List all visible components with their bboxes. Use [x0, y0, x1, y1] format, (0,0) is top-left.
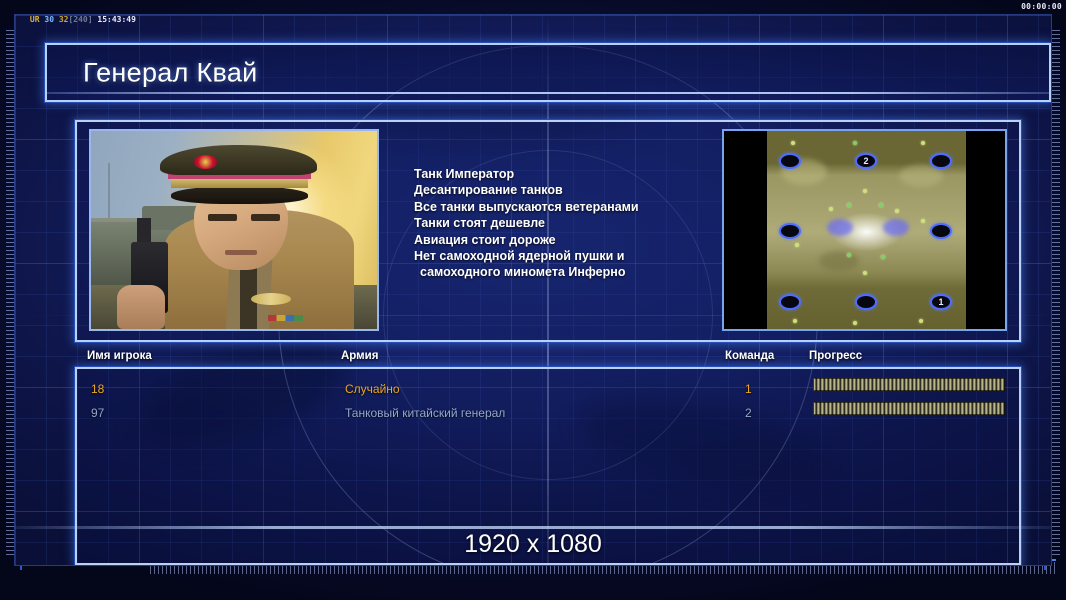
- general-info-panel: Танк Император Десантирование танков Все…: [75, 120, 1021, 342]
- map-preview[interactable]: 2 1: [722, 129, 1007, 331]
- map-start-position[interactable]: 2: [855, 153, 877, 169]
- portrait-cap-badge: [194, 155, 217, 169]
- game-timer: 00:00:00: [1021, 0, 1062, 13]
- bottom-accent-strip: [15, 526, 1051, 529]
- map-start-position[interactable]: 1: [930, 294, 952, 310]
- fps-bracket: [240]: [68, 15, 92, 24]
- session-time: 15:43:49: [97, 15, 136, 24]
- column-header-name: Имя игрока: [87, 350, 152, 362]
- general-description: Танк Император Десантирование танков Все…: [414, 166, 734, 281]
- fps-value-1: 30: [44, 15, 54, 24]
- map-water-right: [883, 219, 909, 236]
- map-start-position[interactable]: [930, 223, 952, 239]
- main-screen: Генерал Квай: [14, 14, 1052, 566]
- column-header-progress: Прогресс: [809, 350, 862, 362]
- description-line: Все танки выпускаются ветеранами: [414, 199, 734, 215]
- map-resource-dot: [795, 243, 799, 247]
- fps-label: UR: [30, 15, 40, 24]
- map-resource-dot: [847, 253, 851, 257]
- map-resource-dot: [853, 141, 857, 145]
- map-start-position[interactable]: [855, 294, 877, 310]
- portrait-cap-brim: [171, 186, 308, 204]
- description-line: Танки стоят дешевле: [414, 215, 734, 231]
- map-resource-dot: [791, 141, 795, 145]
- cell-team[interactable]: 1: [745, 378, 752, 400]
- cell-army[interactable]: Случайно: [345, 378, 400, 400]
- cell-team[interactable]: 2: [745, 402, 752, 424]
- map-start-position[interactable]: [930, 153, 952, 169]
- description-line: самоходного миномета Инферно: [414, 264, 734, 280]
- app-root: Генерал Квай: [0, 0, 1066, 600]
- map-resource-dot: [847, 203, 851, 207]
- map-start-position[interactable]: [779, 153, 801, 169]
- progress-bar: [813, 378, 1005, 391]
- map-resource-dot: [895, 209, 899, 213]
- performance-overlay: UR 30 32[240] 15:43:49: [1, 0, 136, 39]
- map-resource-dot: [879, 203, 883, 207]
- map-start-position[interactable]: [779, 223, 801, 239]
- map-resource-dot: [853, 321, 857, 325]
- title-underline: [47, 92, 1049, 94]
- portrait-hand: [117, 285, 166, 329]
- map-water-left: [827, 219, 853, 236]
- map-resource-dot: [793, 319, 797, 323]
- portrait-mouth: [225, 250, 256, 255]
- general-portrait: [89, 129, 379, 331]
- status-bar: UR 30 32[240] 15:43:49 00:00:00: [0, 0, 1066, 13]
- player-table-header: Имя игрока Армия Команда Прогресс: [75, 350, 1021, 368]
- map-resource-dot: [921, 141, 925, 145]
- page-title: Генерал Квай: [83, 57, 258, 88]
- portrait-eye-right: [251, 214, 280, 221]
- map-resource-dot: [829, 207, 833, 211]
- map-resource-dot: [881, 255, 885, 259]
- description-line: Нет самоходной ядерной пушки и: [414, 248, 734, 264]
- title-panel: Генерал Квай: [45, 43, 1051, 102]
- description-line: Десантирование танков: [414, 182, 734, 198]
- description-line: Авиация стоит дороже: [414, 232, 734, 248]
- portrait-medal-ribbons: [268, 315, 302, 321]
- column-header-army: Армия: [341, 350, 378, 362]
- map-resource-dot: [921, 219, 925, 223]
- cell-player-name: 97: [91, 402, 104, 424]
- map-patch: [819, 251, 859, 271]
- cell-player-name: 18: [91, 378, 104, 400]
- map-resource-dot: [919, 319, 923, 323]
- progress-bar: [813, 402, 1005, 415]
- table-row[interactable]: 97 Танковый китайский генерал 2: [77, 402, 1019, 424]
- map-start-position[interactable]: [779, 294, 801, 310]
- portrait-eye-left: [208, 214, 237, 221]
- description-line: Танк Император: [414, 166, 734, 182]
- column-header-team: Команда: [725, 350, 774, 362]
- map-resource-dot: [863, 189, 867, 193]
- map-terrain: 2 1: [767, 131, 966, 331]
- table-row[interactable]: 18 Случайно 1: [77, 378, 1019, 400]
- map-resource-dot: [863, 271, 867, 275]
- resolution-caption: 1920 x 1080: [15, 530, 1051, 559]
- cell-army[interactable]: Танковый китайский генерал: [345, 402, 505, 424]
- portrait-artwork: [91, 131, 377, 329]
